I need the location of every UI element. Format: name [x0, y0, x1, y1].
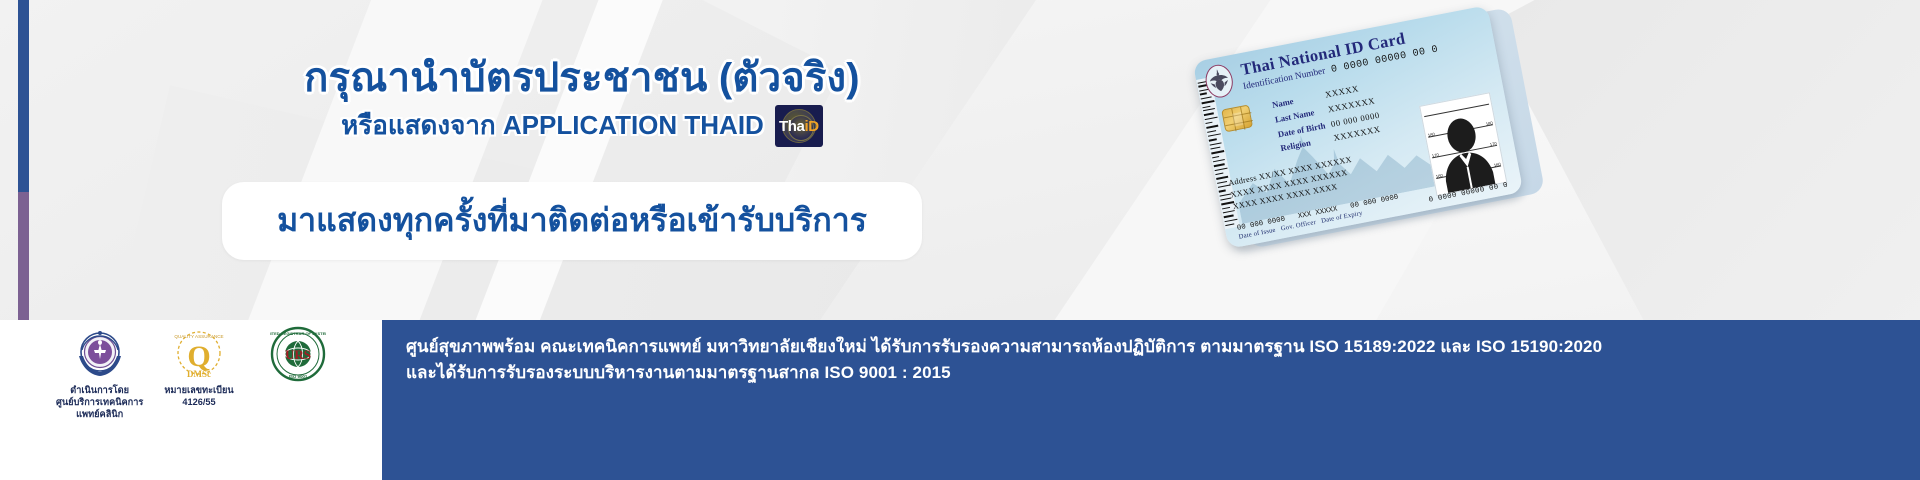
subline-text: หรือแสดงจาก APPLICATION THAID: [341, 110, 764, 141]
footer-text-line-1: ศูนย์สุขภาพพร้อม คณะเทคนิคการแพทย์ มหาวิ…: [406, 334, 1920, 360]
footer-logo-caption: หมายเลขทะเบียน 4126/55: [149, 385, 248, 409]
headline-text: กรุณานำบัตรประชาชน (ตัวจริง): [222, 56, 942, 101]
footer-logo-item: Q QUALITY ASSURANCE DMSc หมายเลขทะเบียน …: [149, 326, 248, 409]
footer-logo-item: ดำเนินการโดย ศูนย์บริการเทคนิคการแพทย์คล…: [50, 326, 149, 420]
footer-logo-item: URS UNITED REGISTRAR OF SYSTEMS ISO 9001: [249, 326, 348, 385]
accent-bar-purple: [18, 192, 29, 320]
dmsc-quality-assurance-seal-icon: Q QUALITY ASSURANCE DMSc: [171, 326, 227, 382]
thai-id-card-illustration: Thai National ID Card Identification Num…: [1178, 10, 1918, 310]
thaid-wordmark-orange: iD: [804, 118, 818, 135]
thaid-logo-wordmark: ThaiD: [775, 119, 823, 134]
footer-logo-group: ดำเนินการโดย ศูนย์บริการเทคนิคการแพทย์คล…: [0, 320, 382, 480]
svg-text:ISO 9001: ISO 9001: [289, 374, 308, 379]
footer-logo-caption-line1: ดำเนินการโดย: [50, 385, 149, 397]
headline-block: กรุณานำบัตรประชาชน (ตัวจริง) หรือแสดงจาก…: [222, 56, 942, 147]
footer-bar: ดำเนินการโดย ศูนย์บริการเทคนิคการแพทย์คล…: [0, 320, 1920, 480]
footer-accreditation-text: ศูนย์สุขภาพพร้อม คณะเทคนิคการแพทย์ มหาวิ…: [382, 320, 1920, 480]
urs-iso9001-seal-icon: URS UNITED REGISTRAR OF SYSTEMS ISO 9001: [270, 326, 326, 382]
thaid-wordmark-white: Tha: [779, 118, 804, 135]
photo-scale-right-160: 160: [1493, 162, 1501, 168]
svg-text:UNITED REGISTRAR OF SYSTEMS: UNITED REGISTRAR OF SYSTEMS: [270, 331, 326, 336]
photo-scale-right-170: 170: [1489, 141, 1497, 147]
call-to-action-pill[interactable]: มาแสดงทุกครั้งที่มาติดต่อหรือเข้ารับบริก…: [222, 182, 922, 260]
footer-text-line-2: และได้รับการรับรองระบบบริหารงานตามมาตรฐา…: [406, 360, 1920, 386]
thai-national-id-card: Thai National ID Card Identification Num…: [1193, 5, 1524, 249]
footer-logo-caption-line1: หมายเลขทะเบียน 4126/55: [149, 385, 248, 409]
amtc-clinic-seal-icon: [72, 326, 128, 382]
footer-logo-caption-line2: ศูนย์บริการเทคนิคการแพทย์คลินิก: [50, 397, 149, 421]
photo-scale-right-180: 180: [1485, 120, 1493, 126]
card-chip-icon: [1221, 104, 1253, 132]
pill-text: มาแสดงทุกครั้งที่มาติดต่อหรือเข้ารับบริก…: [277, 203, 867, 238]
accent-bar-blue: [18, 0, 29, 192]
subline-row: หรือแสดงจาก APPLICATION THAID ThaiD: [222, 105, 942, 147]
id-card-notice-banner: กรุณานำบัตรประชาชน (ตัวจริง) หรือแสดงจาก…: [0, 0, 1920, 480]
thaid-app-logo-icon[interactable]: ThaiD: [775, 105, 823, 147]
svg-text:QUALITY ASSURANCE: QUALITY ASSURANCE: [174, 334, 223, 339]
footer-logo-caption: ดำเนินการโดย ศูนย์บริการเทคนิคการแพทย์คล…: [50, 385, 149, 420]
svg-text:URS: URS: [285, 347, 311, 362]
svg-text:DMSc: DMSc: [187, 369, 211, 379]
